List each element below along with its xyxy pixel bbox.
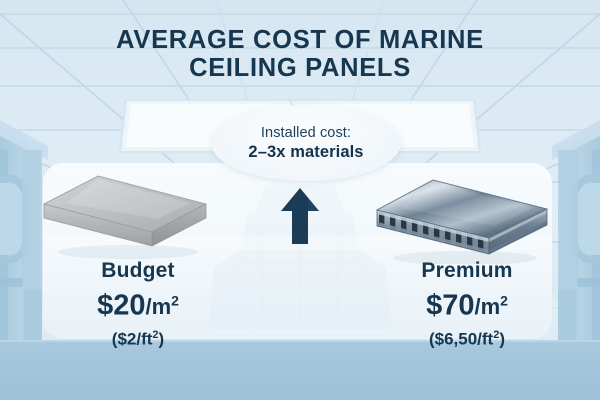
option-budget-subtext: ($2/ft2)	[33, 325, 243, 350]
option-budget-price-unit: /m2	[145, 294, 178, 319]
title-line-1: AVERAGE COST OF MARINE	[0, 26, 600, 54]
installed-cost-callout: Installed cost: 2–3x materials	[211, 105, 401, 181]
option-premium-name: Premium	[362, 258, 572, 283]
option-budget-name: Budget	[33, 258, 243, 283]
metal-honeycomb-panel-icon	[373, 176, 553, 264]
option-premium-subtext: ($6,50/ft2)	[362, 325, 572, 350]
option-budget-price-value: $20	[97, 289, 145, 321]
option-premium-price-value: $70	[426, 289, 474, 321]
porthole-window-right	[576, 178, 600, 260]
grey-foam-panel-icon	[40, 172, 212, 260]
option-premium-labels: Premium $70/m2 ($6,50/ft2)	[362, 258, 572, 350]
title-line-2: CEILING PANELS	[0, 54, 600, 82]
infographic-canvas: AVERAGE COST OF MARINE CEILING PANELS In…	[0, 0, 600, 400]
option-premium-price-unit: /m2	[474, 294, 507, 319]
callout-line-1: Installed cost:	[261, 124, 351, 142]
arrow-up-icon	[279, 186, 321, 246]
option-budget-labels: Budget $20/m2 ($2/ft2)	[33, 258, 243, 350]
porthole-window-left	[0, 178, 24, 260]
option-premium-price: $70/m2	[362, 283, 572, 325]
callout-line-2: 2–3x materials	[248, 142, 363, 163]
page-title: AVERAGE COST OF MARINE CEILING PANELS	[0, 26, 600, 82]
option-budget-price: $20/m2	[33, 283, 243, 325]
